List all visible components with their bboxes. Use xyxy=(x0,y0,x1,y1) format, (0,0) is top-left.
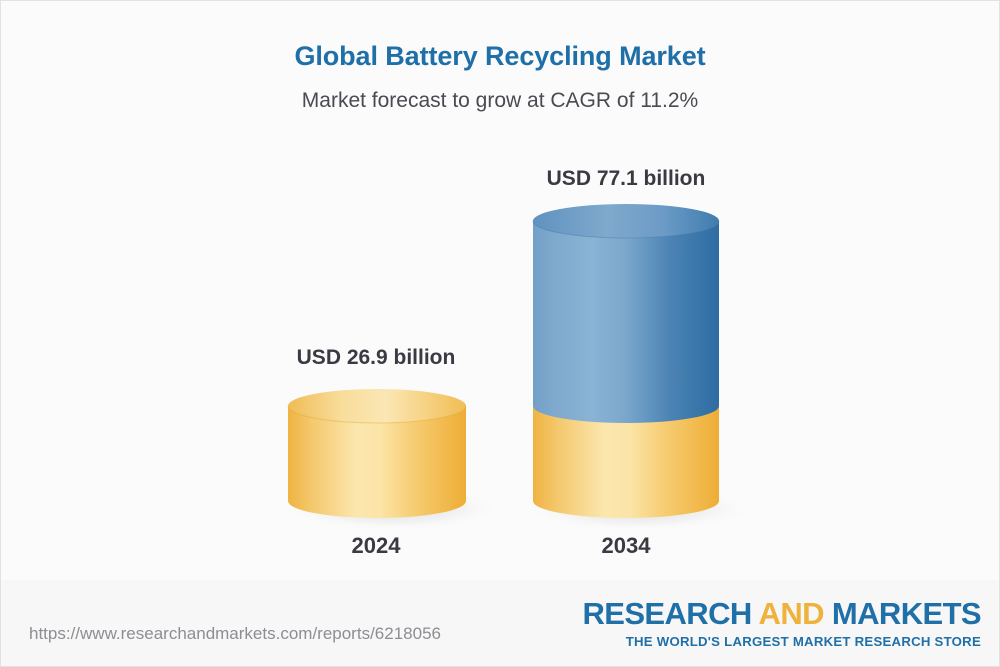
bar-2034-growth-body xyxy=(533,221,719,423)
logo-word-research: RESEARCH xyxy=(582,596,751,631)
logo-word-and: AND xyxy=(759,596,824,631)
research-and-markets-logo[interactable]: RESEARCH AND MARKETS THE WORLD'S LARGEST… xyxy=(582,598,981,648)
chart-page: Global Battery Recycling Market Market f… xyxy=(0,0,1000,667)
logo-word-markets: MARKETS xyxy=(832,596,981,631)
logo-tagline: THE WORLD'S LARGEST MARKET RESEARCH STOR… xyxy=(582,635,981,648)
x-axis-label-2034: 2034 xyxy=(526,533,726,559)
cylinder-chart-svg xyxy=(1,1,1000,667)
x-axis-label-2024: 2024 xyxy=(276,533,476,559)
bar-2024-value-label: USD 26.9 billion xyxy=(276,346,476,370)
bar-2034-cylinder[interactable] xyxy=(533,204,719,518)
chart-plot-area: USD 26.9 billion USD 77.1 billion 2024 2… xyxy=(1,1,1000,667)
source-url[interactable]: https://www.researchandmarkets.com/repor… xyxy=(29,624,441,644)
logo-wordmark: RESEARCH AND MARKETS xyxy=(582,598,981,629)
bar-2024-cylinder[interactable] xyxy=(288,389,466,518)
bar-2034-value-label: USD 77.1 billion xyxy=(526,167,726,191)
